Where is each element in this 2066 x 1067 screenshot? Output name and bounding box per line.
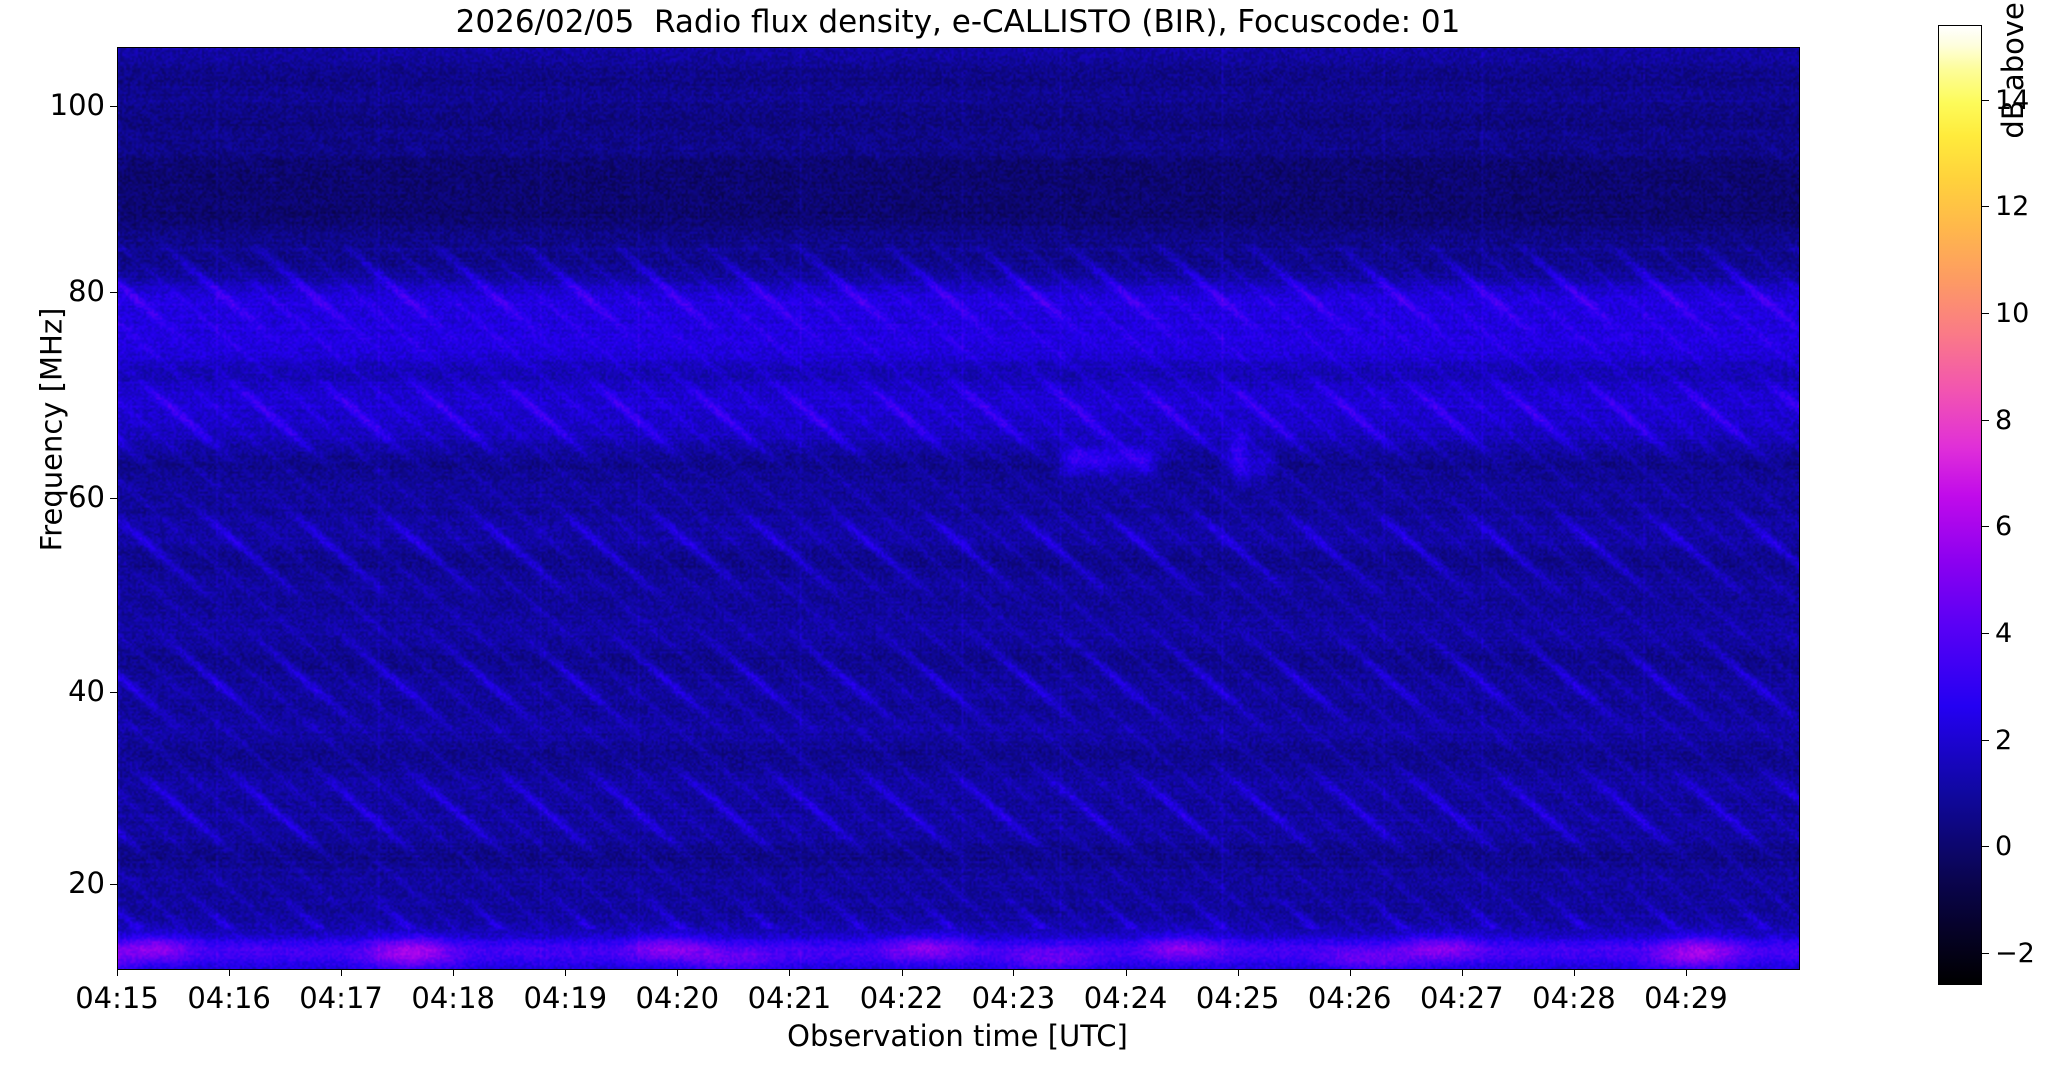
x-tick-mark xyxy=(1013,969,1014,976)
x-tick-mark xyxy=(117,969,118,976)
y-tick-mark xyxy=(110,292,117,293)
x-tick-mark xyxy=(341,969,342,976)
colorbar[interactable]: −202468101214 xyxy=(1938,25,1982,985)
spectrogram-canvas xyxy=(118,48,1799,969)
spectrogram-axes[interactable] xyxy=(117,47,1800,970)
y-tick-label: 60 xyxy=(68,483,105,512)
colorbar-tick-label: 10 xyxy=(1995,300,2029,327)
y-tick-label: 100 xyxy=(50,91,105,120)
spectrogram-image xyxy=(118,48,1799,969)
colorbar-tick-label: −2 xyxy=(1995,940,2035,967)
x-tick-mark xyxy=(1126,969,1127,976)
y-tick-mark xyxy=(110,498,117,499)
colorbar-tick-mark xyxy=(1982,313,1989,314)
y-tick-label: 20 xyxy=(68,869,105,898)
x-tick-label: 04:29 xyxy=(1616,981,1756,1015)
x-tick-mark xyxy=(1238,969,1239,976)
x-tick-mark xyxy=(789,969,790,976)
figure-canvas: 2026/02/05 Radio flux density, e-CALLIST… xyxy=(0,0,2066,1067)
x-tick-mark xyxy=(229,969,230,976)
x-tick-mark xyxy=(677,969,678,976)
y-tick-label: 40 xyxy=(68,677,105,706)
x-tick-mark xyxy=(1462,969,1463,976)
colorbar-gradient xyxy=(1938,25,1982,985)
y-tick-mark xyxy=(110,884,117,885)
x-tick-mark xyxy=(565,969,566,976)
colorbar-tick-label: 2 xyxy=(1995,727,2012,754)
colorbar-tick-label: 8 xyxy=(1995,407,2012,434)
colorbar-tick-label: 0 xyxy=(1995,833,2012,860)
colorbar-tick-mark xyxy=(1982,953,1989,954)
x-tick-mark xyxy=(1350,969,1351,976)
x-tick-mark xyxy=(902,969,903,976)
page-title: 2026/02/05 Radio flux density, e-CALLIST… xyxy=(0,2,1916,42)
colorbar-tick-mark xyxy=(1982,420,1989,421)
x-tick-mark xyxy=(453,969,454,976)
y-tick-mark xyxy=(110,692,117,693)
colorbar-tick-mark xyxy=(1982,100,1989,101)
y-axis-label: Frequency [MHz] xyxy=(38,170,67,690)
x-axis-label: Observation time [UTC] xyxy=(117,1019,1798,1053)
y-tick-label: 80 xyxy=(68,277,105,306)
colorbar-tick-label: 6 xyxy=(1995,513,2012,540)
colorbar-tick-mark xyxy=(1982,526,1989,527)
colorbar-tick-label: 4 xyxy=(1995,620,2012,647)
y-tick-mark xyxy=(110,106,117,107)
colorbar-tick-mark xyxy=(1982,740,1989,741)
x-tick-mark xyxy=(1574,969,1575,976)
colorbar-tick-mark xyxy=(1982,846,1989,847)
x-tick-mark xyxy=(1686,969,1687,976)
colorbar-tick-mark xyxy=(1982,633,1989,634)
colorbar-label: dB above background xyxy=(1999,0,2028,240)
colorbar-tick-mark xyxy=(1982,206,1989,207)
